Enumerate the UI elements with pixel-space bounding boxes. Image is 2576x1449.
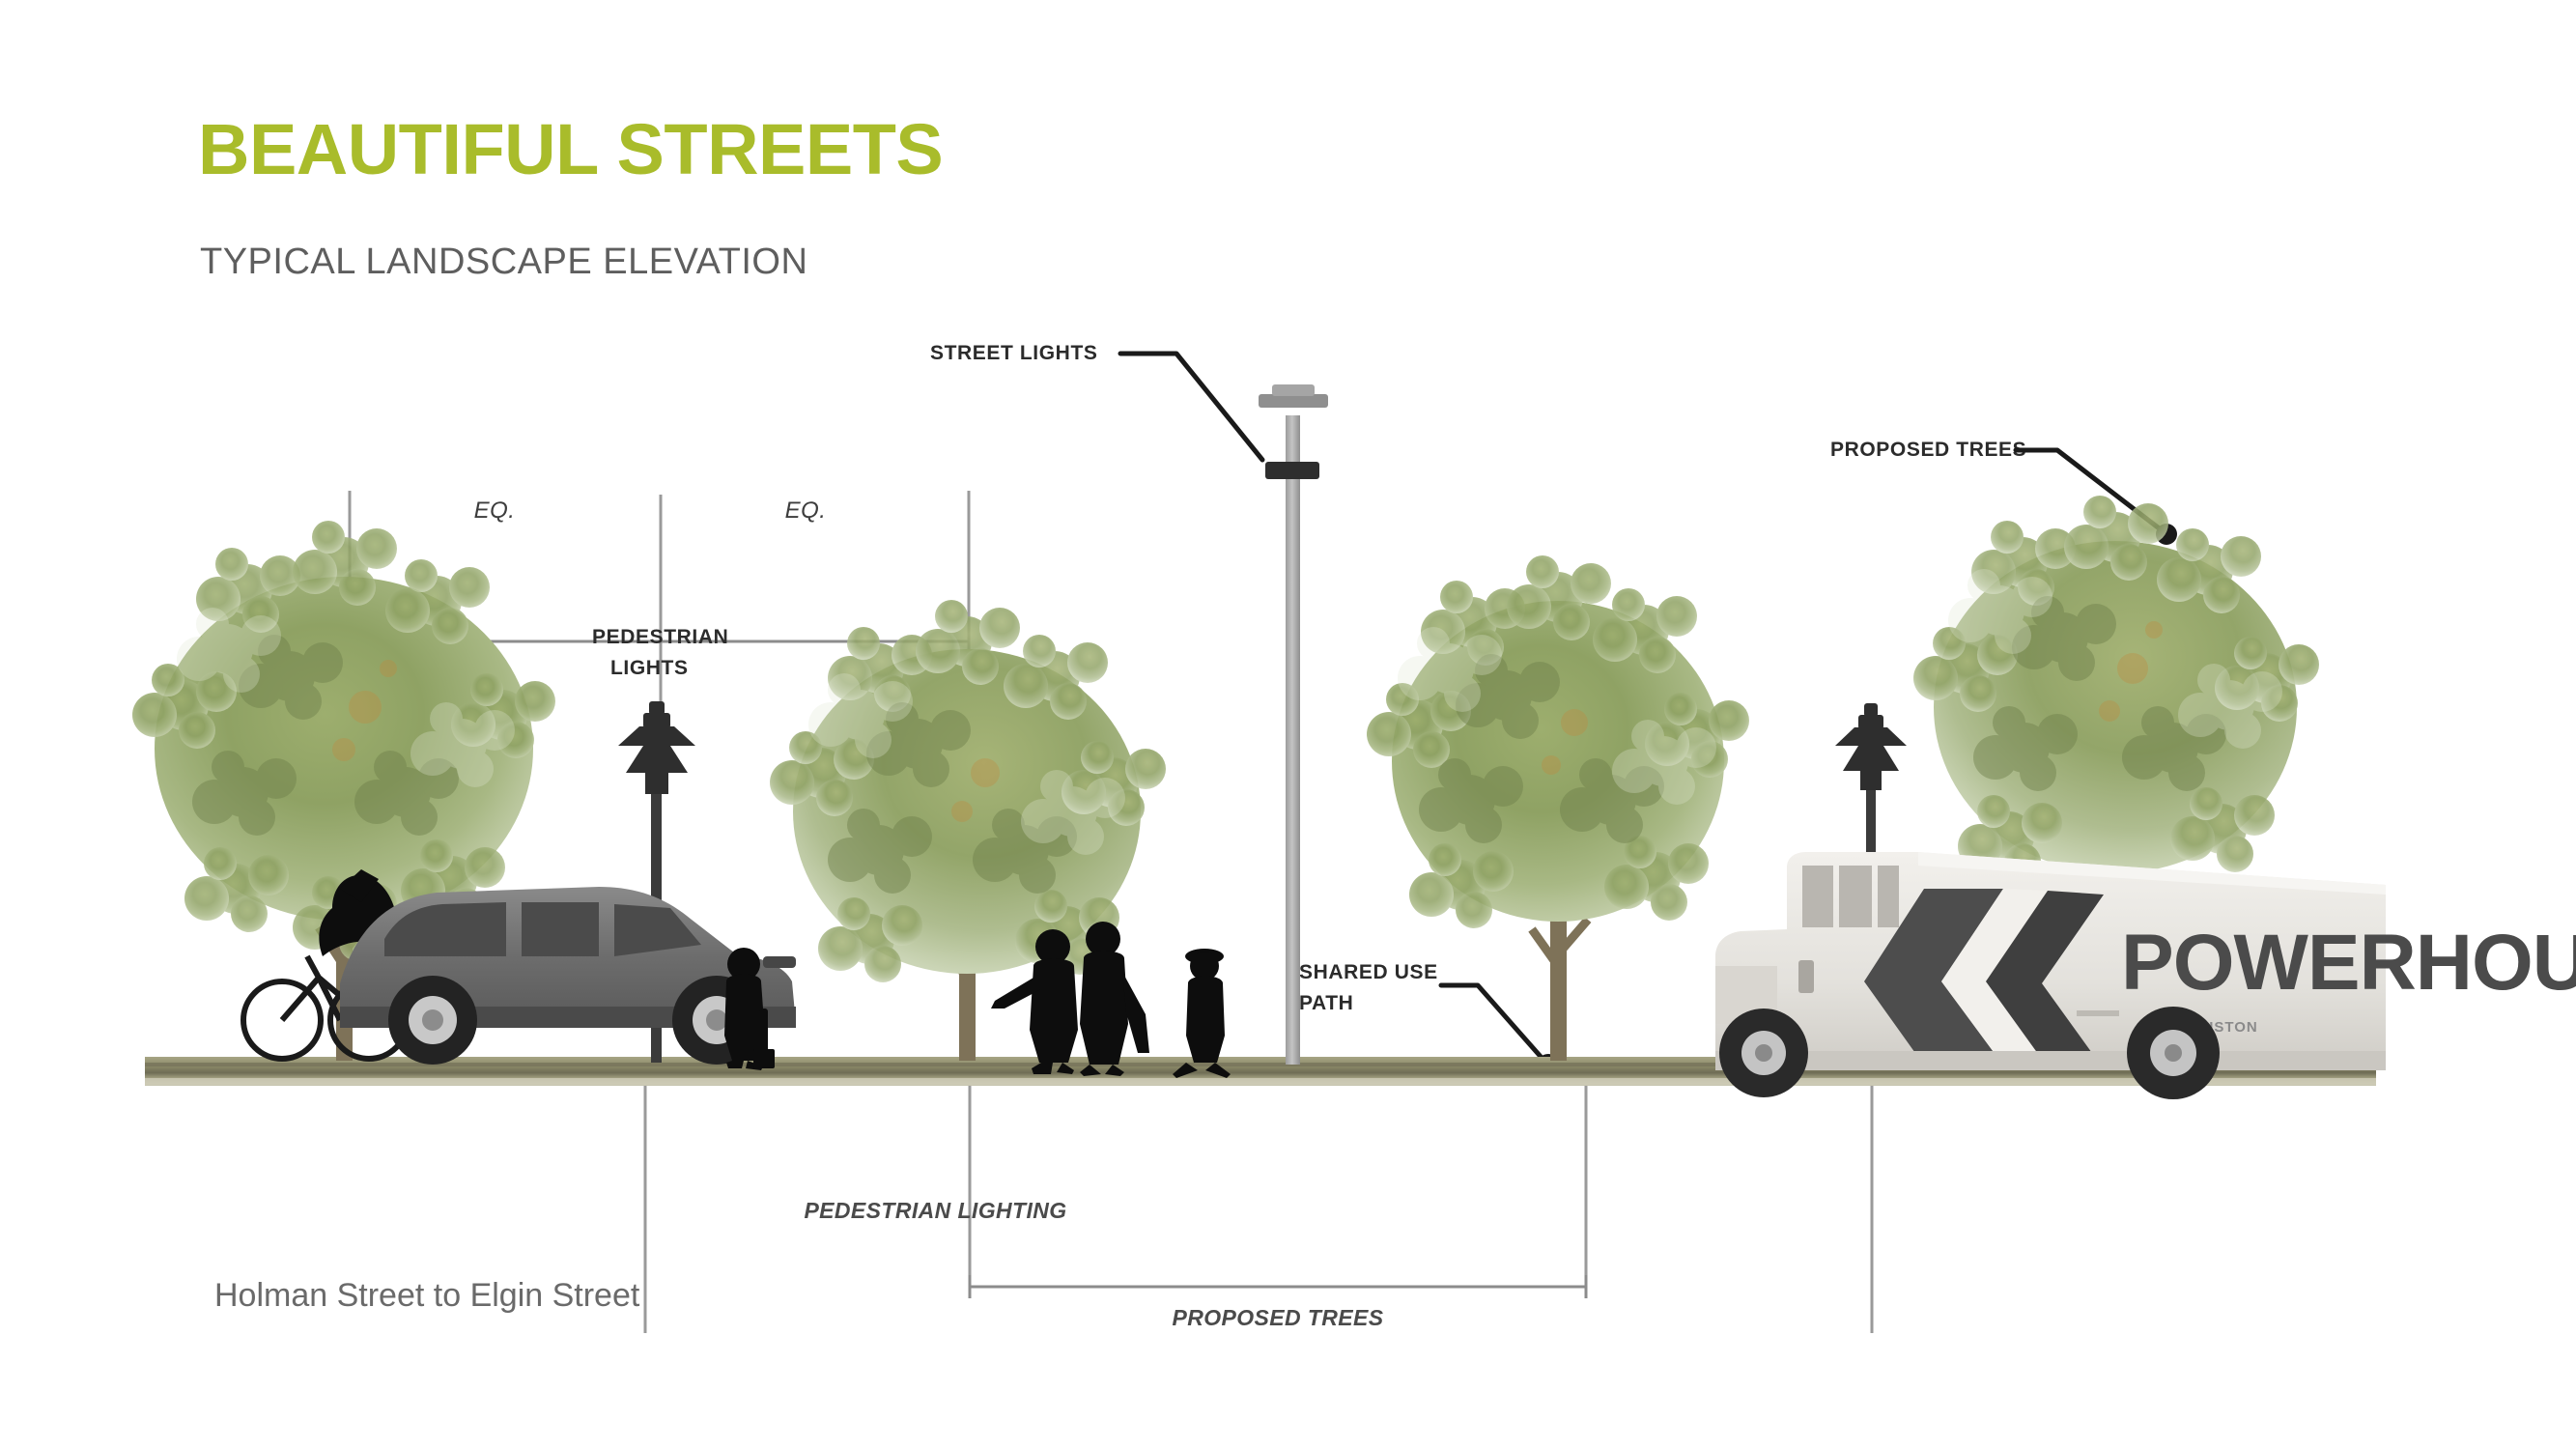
page-title: BEAUTIFUL STREETS [198, 114, 943, 185]
dimension-pedestrian-lighting [645, 1086, 1872, 1333]
dimension-label-proposed-trees: PROPOSED TREES [1172, 1305, 1383, 1330]
bus: POWERHOUSE HOUSTON [1715, 852, 2576, 1099]
callout-label-shared-use-path-line1: SHARED USE [1299, 961, 1438, 983]
callout-label-shared-use-path-line2: PATH [1299, 992, 1353, 1014]
callout-label-street-lights: STREET LIGHTS [930, 342, 1097, 364]
eq-label-right: EQ. [785, 497, 827, 524]
page-subtitle: TYPICAL LANDSCAPE ELEVATION [200, 243, 807, 280]
callout-street-lights: STREET LIGHTS [930, 342, 1262, 460]
bus-livery-text: POWERHOUSE [2121, 919, 2576, 1007]
landscape-elevation-figure: EQ. EQ. STREET LIGHTS PROPOSED TREES PED… [0, 290, 2576, 1333]
tree-3 [1367, 555, 1749, 1061]
walker-3 [1080, 922, 1149, 1076]
callout-label-proposed-trees: PROPOSED TREES [1830, 439, 2026, 461]
eq-label-left: EQ. [474, 497, 516, 524]
callout-label-pedestrian-lights-line2: LIGHTS [610, 657, 689, 679]
callout-label-pedestrian-lights-line1: PEDESTRIAN [592, 626, 728, 648]
dimension-proposed-trees: PROPOSED TREES [970, 1086, 1586, 1330]
